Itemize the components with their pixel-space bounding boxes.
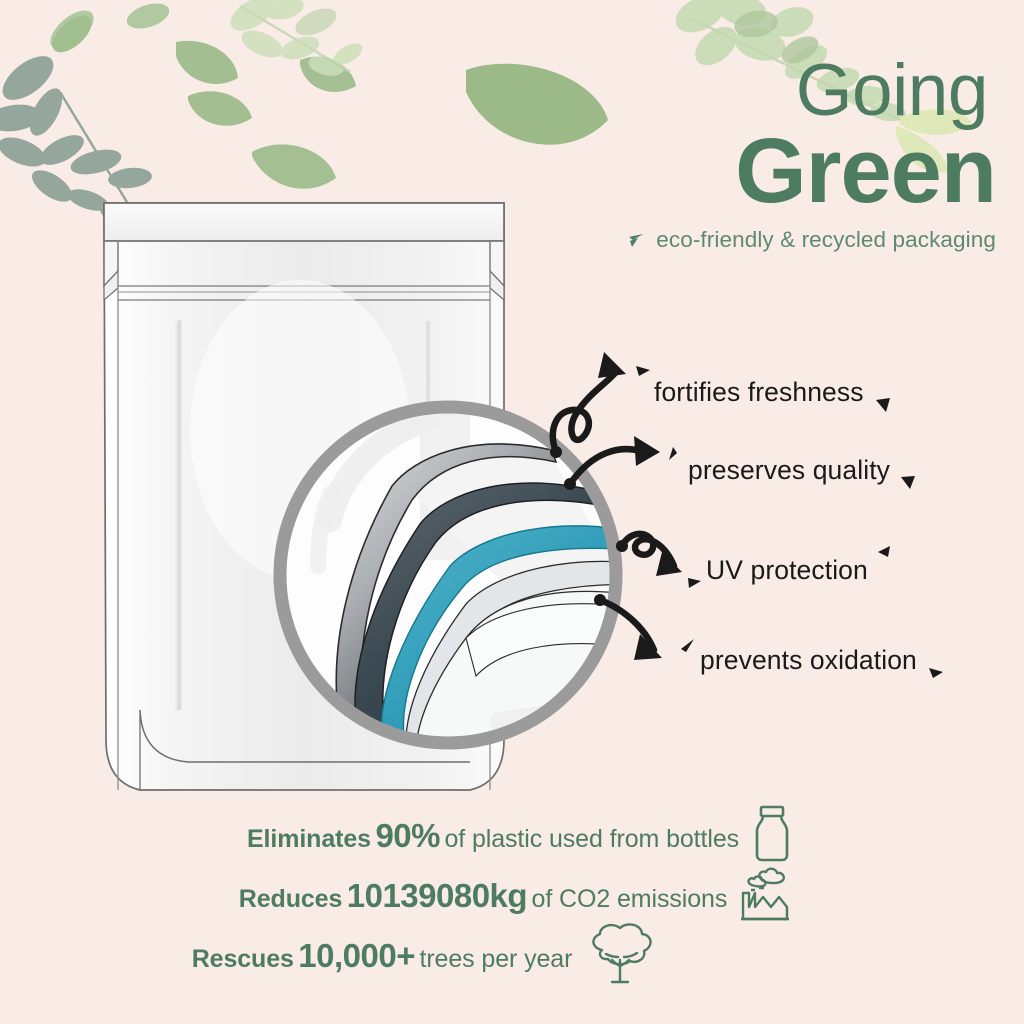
feature-label: UV protection [706, 555, 868, 586]
triangle-accent-icon [630, 362, 656, 388]
feature-label: preserves quality [688, 455, 890, 486]
triangle-accent-icon [676, 635, 700, 659]
triangle-accent-icon [896, 471, 920, 495]
feature-uv-protection: UV protection [684, 542, 896, 598]
feature-label: fortifies freshness [654, 377, 864, 408]
stat-lead: Eliminates [247, 825, 371, 853]
stat-row: Reduces 10139080kg of CO2 emissions [0, 866, 1024, 926]
stat-value: 90% [375, 817, 440, 854]
feature-preserves-quality: preserves quality [664, 444, 920, 496]
feature-fortifies-freshness: fortifies freshness [630, 362, 896, 422]
stat-lead: Reduces [239, 885, 343, 913]
page-subtitle: eco-friendly & recycled packaging [656, 227, 996, 253]
triangle-accent-icon [664, 444, 686, 466]
stat-row: Rescues 10,000+ trees per year [0, 926, 1024, 986]
subtitle-row: eco-friendly & recycled packaging [520, 227, 1000, 253]
stat-text: Reduces 10139080kg of CO2 emissions [239, 877, 727, 915]
feature-label: prevents oxidation [700, 645, 917, 676]
stat-lead: Rescues [192, 945, 294, 973]
page-title-line1: Going [520, 56, 1000, 127]
stat-text: Rescues 10,000+ trees per year [192, 937, 573, 975]
stat-text: Eliminates 90% of plastic used from bott… [247, 817, 739, 855]
page-title-line2: Green [520, 127, 1000, 215]
stat-tail: of plastic used from bottles [444, 825, 739, 853]
triangle-accent-icon [684, 572, 706, 594]
stat-tail: of CO2 emissions [532, 885, 728, 913]
tree-icon [582, 920, 660, 993]
impact-stats: Eliminates 90% of plastic used from bott… [0, 806, 1024, 986]
bottle-icon [749, 803, 795, 870]
triangle-accent-icon [870, 542, 896, 568]
infographic-poster: Going Green eco-friendly & recycled pack… [0, 0, 1024, 1024]
triangle-accent-icon [626, 229, 648, 251]
stat-row: Eliminates 90% of plastic used from bott… [0, 806, 1024, 866]
stat-value: 10,000+ [298, 937, 415, 974]
triangle-accent-icon [923, 662, 949, 688]
factory-icon [737, 863, 795, 930]
stat-value: 10139080kg [347, 877, 527, 914]
headline-block: Going Green eco-friendly & recycled pack… [520, 56, 1000, 253]
triangle-accent-icon [870, 394, 896, 420]
stat-tail: trees per year [419, 945, 572, 973]
feature-prevents-oxidation: prevents oxidation [676, 632, 949, 688]
